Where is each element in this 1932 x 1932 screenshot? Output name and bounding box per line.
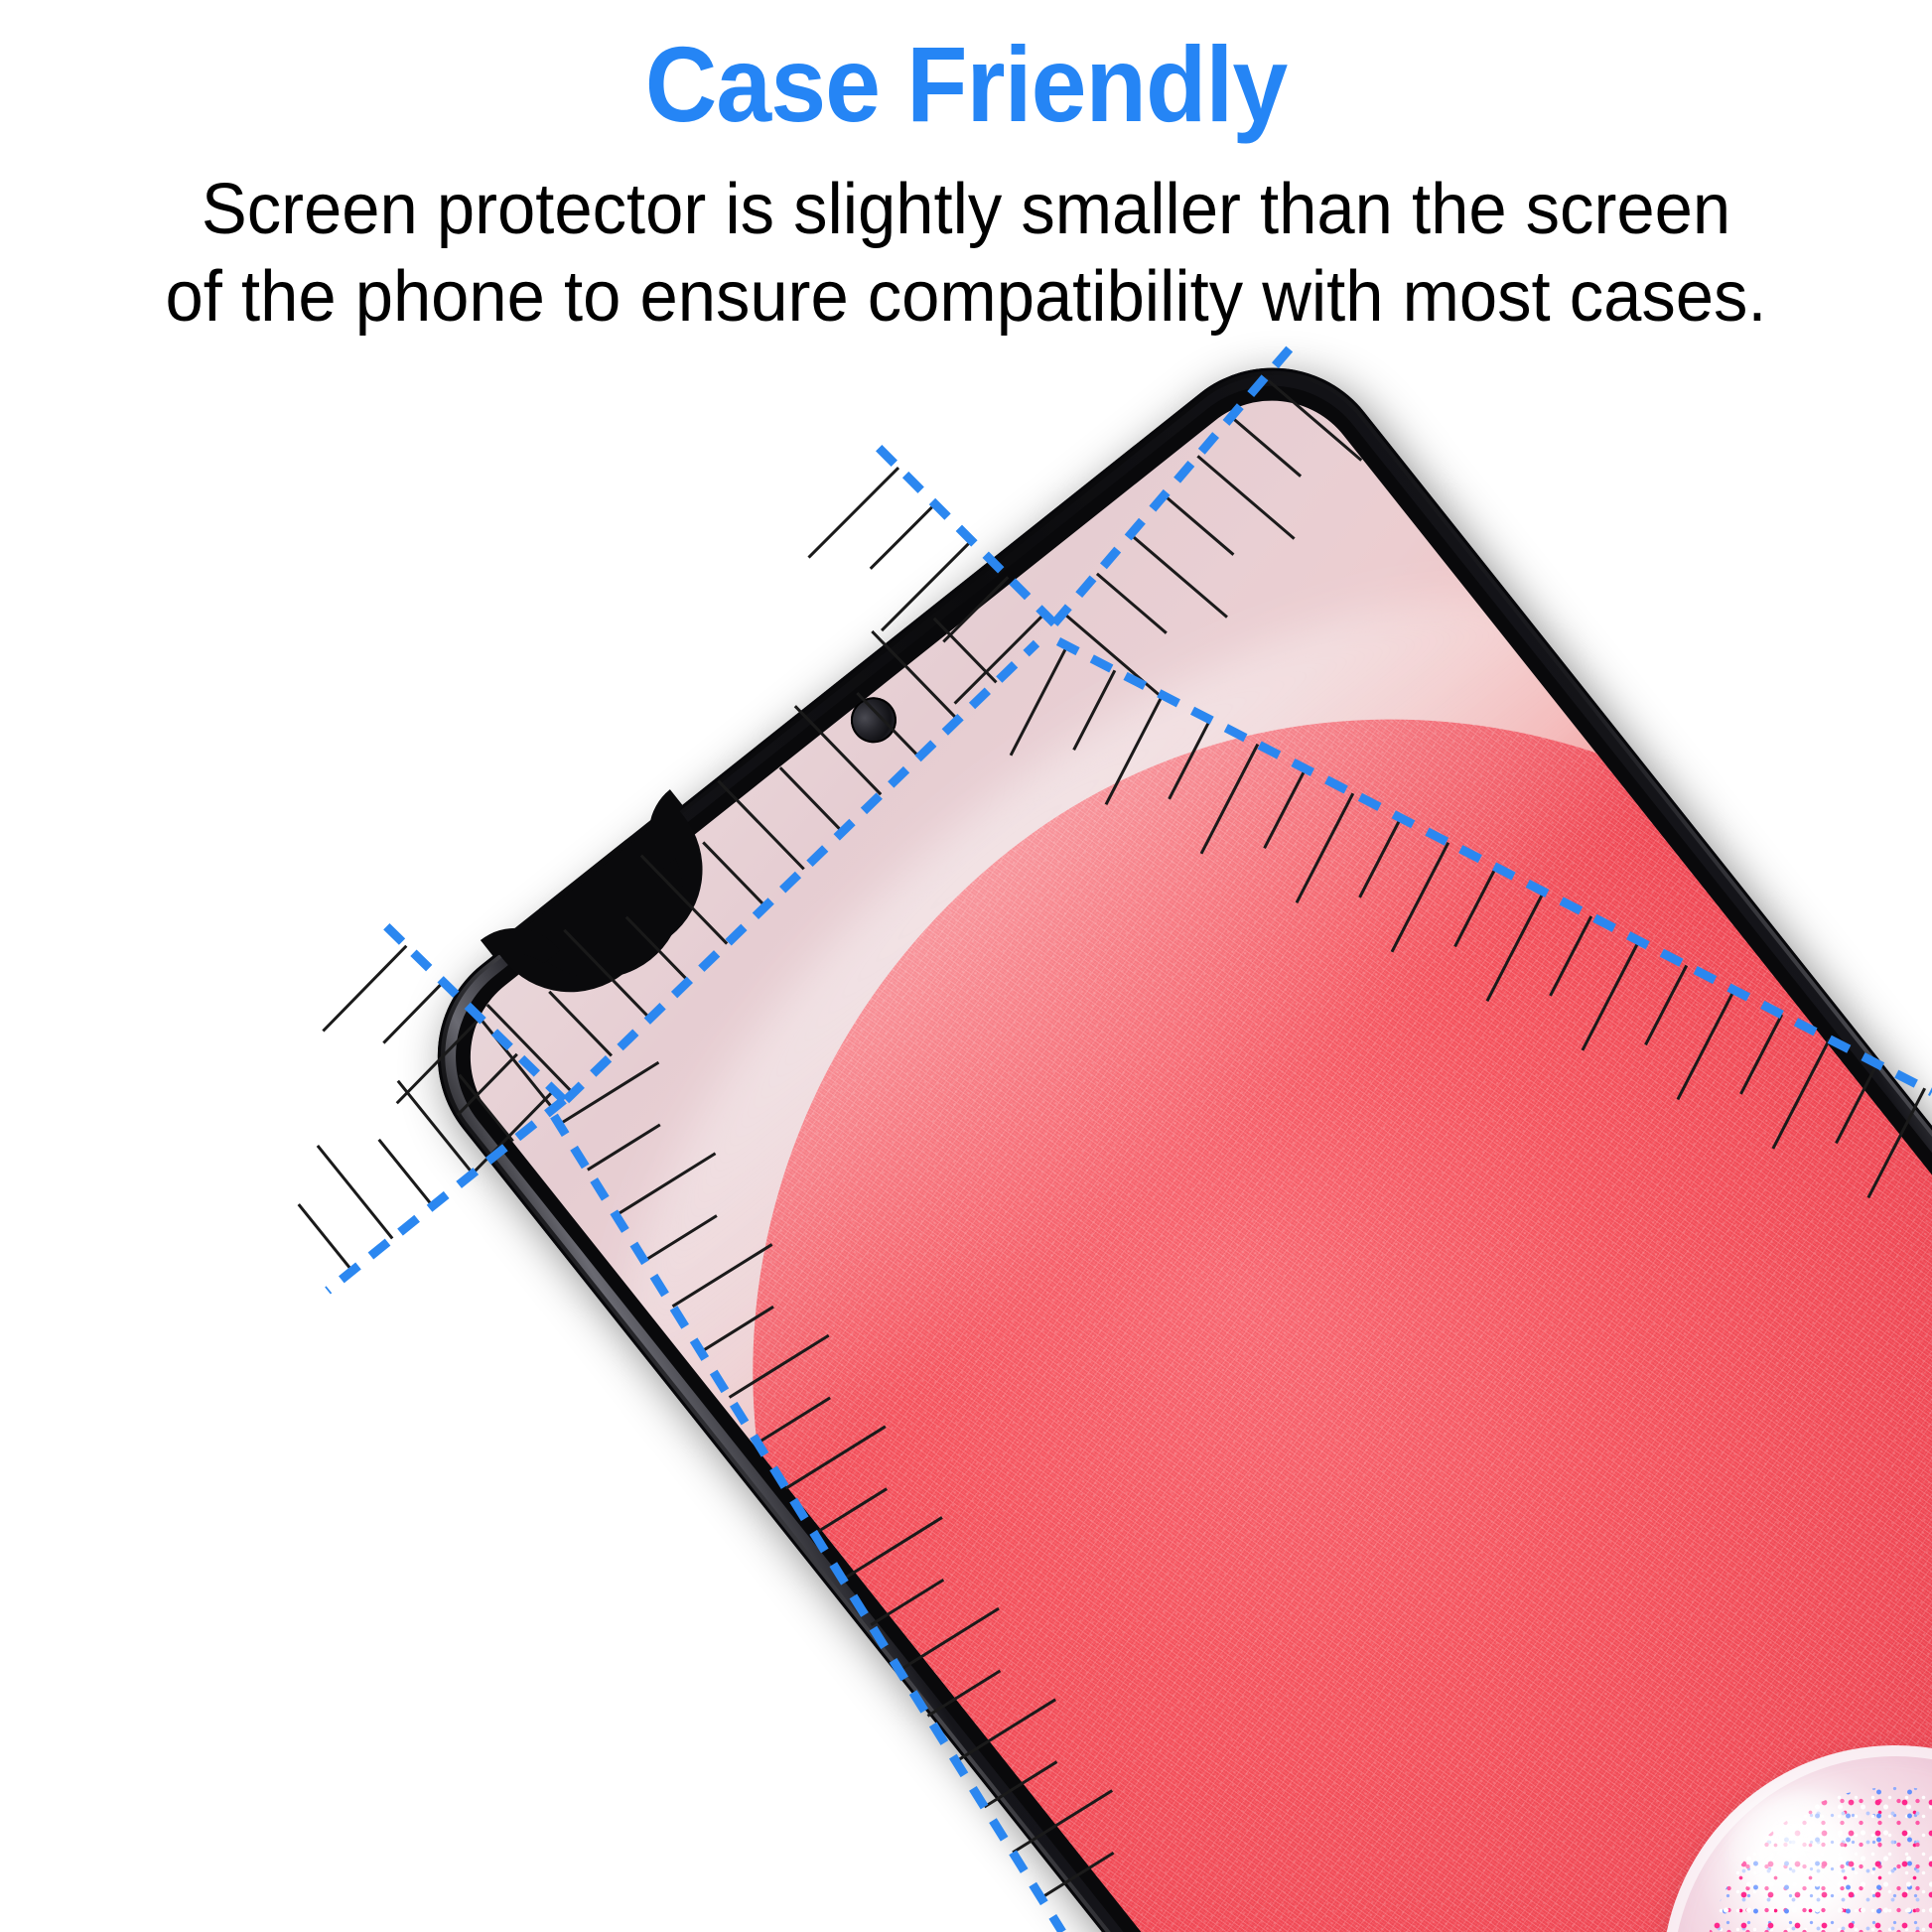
product-photo (0, 318, 1932, 1932)
subtitle-line-1: Screen protector is slightly smaller tha… (44, 167, 1888, 254)
phone-device (390, 318, 1932, 1932)
phone-bezel (390, 321, 1932, 1932)
subtitle-block: Screen protector is slightly smaller tha… (44, 167, 1888, 342)
glitter-specks (1704, 1787, 1932, 1932)
phone-screen (434, 363, 1932, 1932)
product-infographic: Case Friendly Screen protector is slight… (0, 0, 1932, 1932)
page-title: Case Friendly (68, 28, 1864, 140)
